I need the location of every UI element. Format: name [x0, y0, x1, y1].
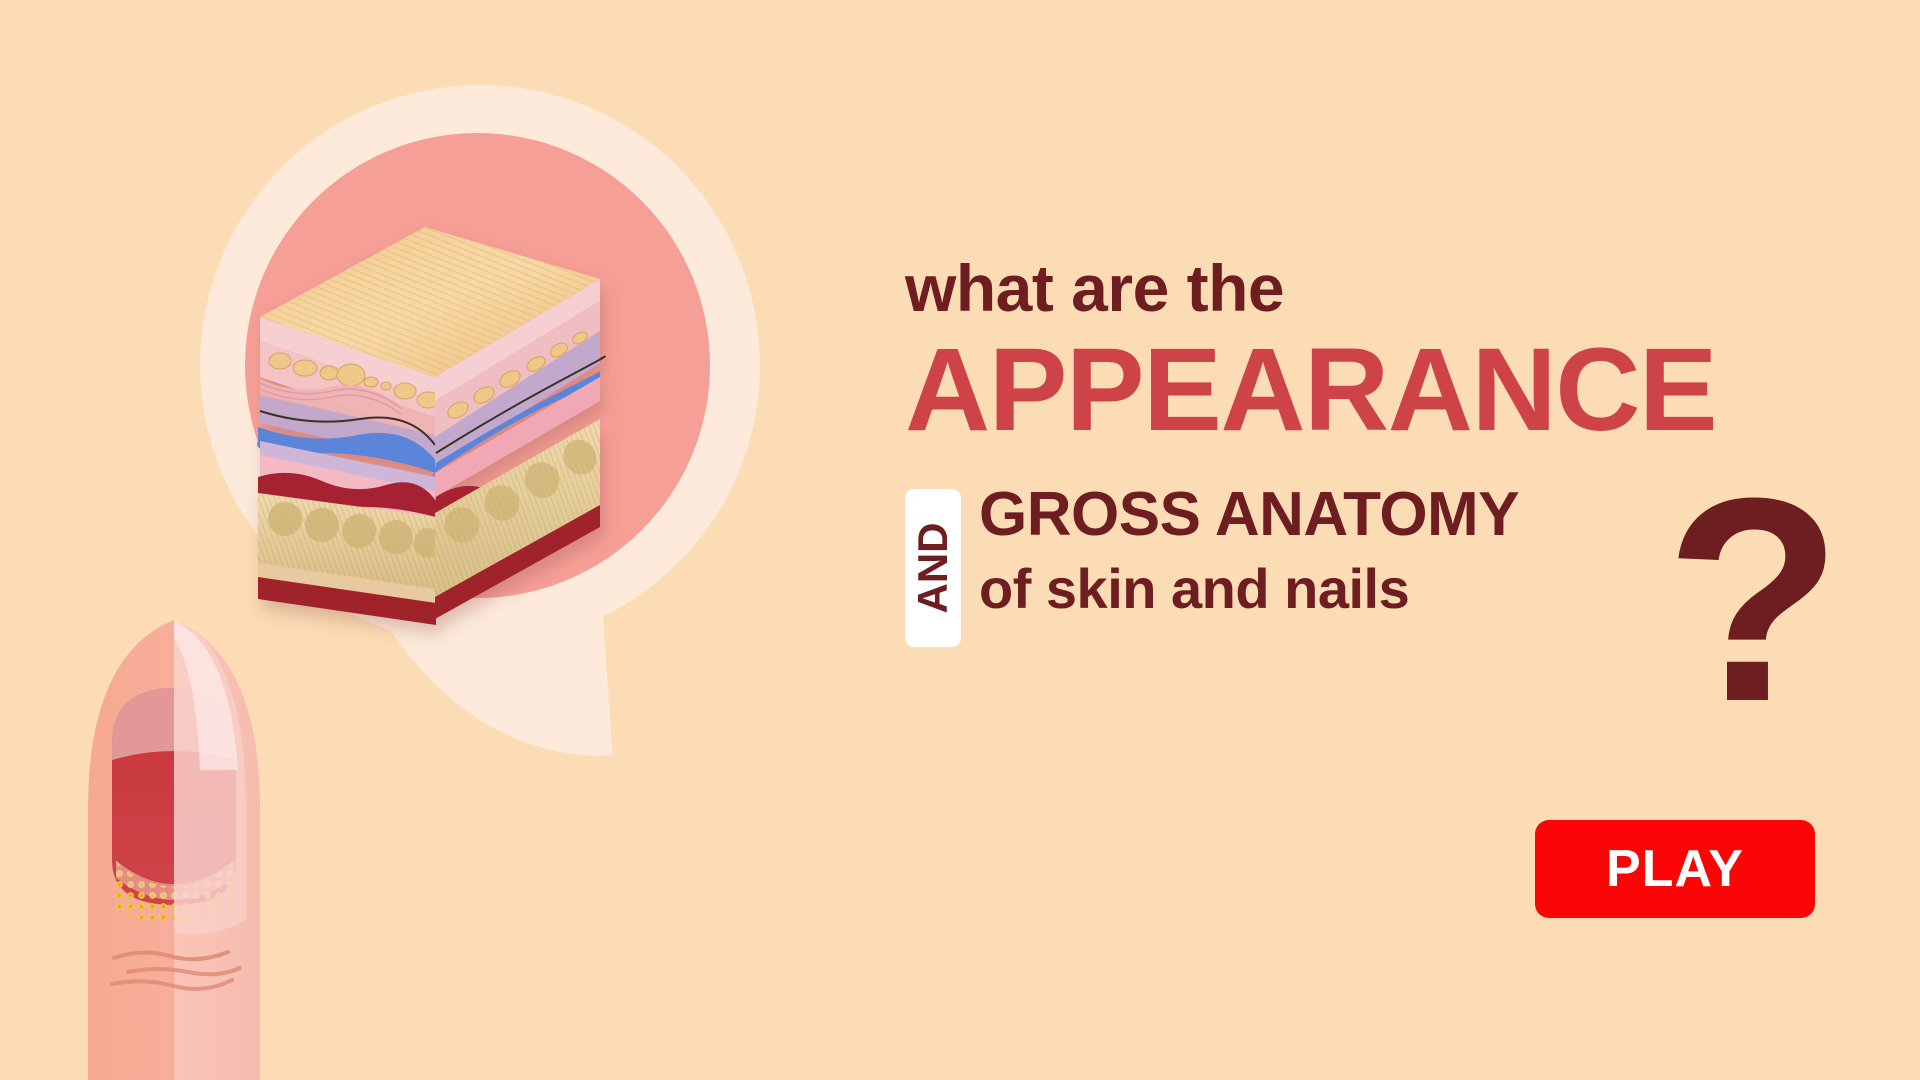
play-button[interactable]: PLAY: [1535, 820, 1815, 918]
headline-sublines: GROSS ANATOMY of skin and nails: [979, 483, 1519, 617]
headline-subline-1: GROSS ANATOMY: [979, 483, 1519, 546]
headline-eyebrow: what are the: [905, 255, 1865, 321]
skin-cross-section-block-icon: [250, 205, 610, 505]
and-badge-label: AND: [909, 523, 957, 614]
slide-canvas: what are the APPEARANCE AND GROSS ANATOM…: [0, 0, 1920, 1080]
question-mark-icon: ?: [1665, 455, 1842, 745]
headline-hero: APPEARANCE: [905, 331, 1865, 449]
headline-subline-2: of skin and nails: [979, 560, 1519, 617]
fingertip-with-nail-illustration: [70, 560, 400, 1080]
and-badge: AND: [905, 489, 961, 647]
